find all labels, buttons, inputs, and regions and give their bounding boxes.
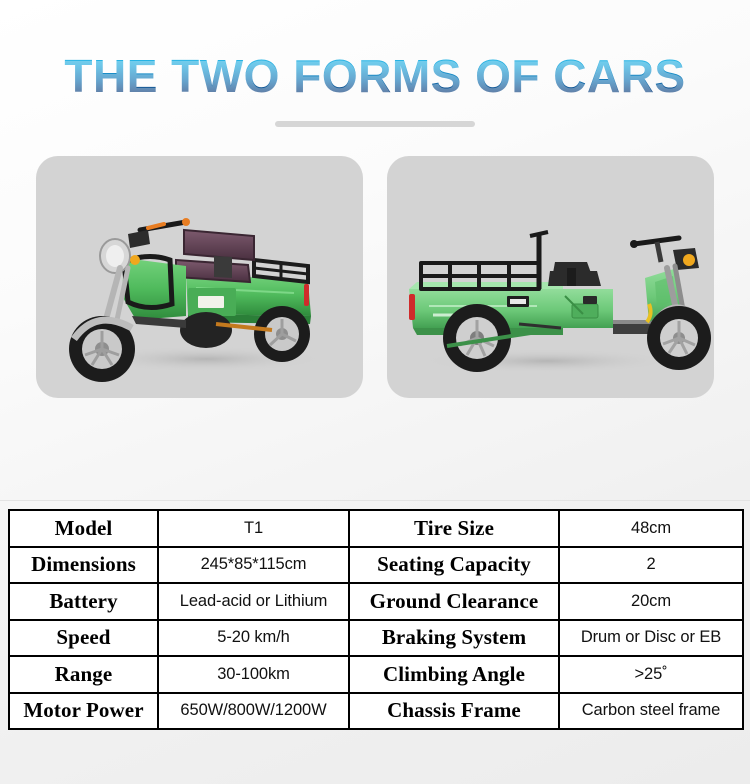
page-header: THE TWO FORMS OF CARS xyxy=(0,0,750,127)
table-row: Motor Power 650W/800W/1200W Chassis Fram… xyxy=(9,693,743,730)
spec-label-chassis-frame: Chassis Frame xyxy=(349,693,559,730)
product-image-card-2[interactable] xyxy=(387,156,714,398)
specifications-table: Model T1 Tire Size 48cm Dimensions 245*8… xyxy=(8,509,744,730)
spec-label-seating-capacity: Seating Capacity xyxy=(349,547,559,584)
spec-label-battery: Battery xyxy=(9,583,158,620)
spec-value-model: T1 xyxy=(158,510,349,547)
spec-value-dimensions: 245*85*115cm xyxy=(158,547,349,584)
table-row: Dimensions 245*85*115cm Seating Capacity… xyxy=(9,547,743,584)
spec-value-climbing-angle: >25˚ xyxy=(559,656,743,693)
spec-value-seating-capacity: 2 xyxy=(559,547,743,584)
table-row: Battery Lead-acid or Lithium Ground Clea… xyxy=(9,583,743,620)
table-row: Range 30-100km Climbing Angle >25˚ xyxy=(9,656,743,693)
spec-label-model: Model xyxy=(9,510,158,547)
spec-label-climbing-angle: Climbing Angle xyxy=(349,656,559,693)
spec-label-braking-system: Braking System xyxy=(349,620,559,657)
spec-label-dimensions: Dimensions xyxy=(9,547,158,584)
specifications-table-body: Model T1 Tire Size 48cm Dimensions 245*8… xyxy=(9,510,743,729)
spec-value-braking-system: Drum or Disc or EB xyxy=(559,620,743,657)
spec-label-tire-size: Tire Size xyxy=(349,510,559,547)
spec-value-motor-power: 650W/800W/1200W xyxy=(158,693,349,730)
spec-value-ground-clearance: 20cm xyxy=(559,583,743,620)
page-title: THE TWO FORMS OF CARS xyxy=(64,52,685,100)
section-divider-rule xyxy=(0,500,750,501)
tricycle-front-view-illustration xyxy=(36,156,363,398)
table-row: Model T1 Tire Size 48cm xyxy=(9,510,743,547)
spec-label-motor-power: Motor Power xyxy=(9,693,158,730)
spec-label-range: Range xyxy=(9,656,158,693)
spec-label-speed: Speed xyxy=(9,620,158,657)
spec-value-tire-size: 48cm xyxy=(559,510,743,547)
spec-label-ground-clearance: Ground Clearance xyxy=(349,583,559,620)
specifications-section: Model T1 Tire Size 48cm Dimensions 245*8… xyxy=(8,509,742,730)
spec-value-battery: Lead-acid or Lithium xyxy=(158,583,349,620)
table-row: Speed 5-20 km/h Braking System Drum or D… xyxy=(9,620,743,657)
spec-value-chassis-frame: Carbon steel frame xyxy=(559,693,743,730)
product-gallery xyxy=(0,127,750,398)
tricycle-side-view-illustration xyxy=(387,156,714,398)
product-image-card-1[interactable] xyxy=(36,156,363,398)
spec-value-speed: 5-20 km/h xyxy=(158,620,349,657)
spec-value-range: 30-100km xyxy=(158,656,349,693)
